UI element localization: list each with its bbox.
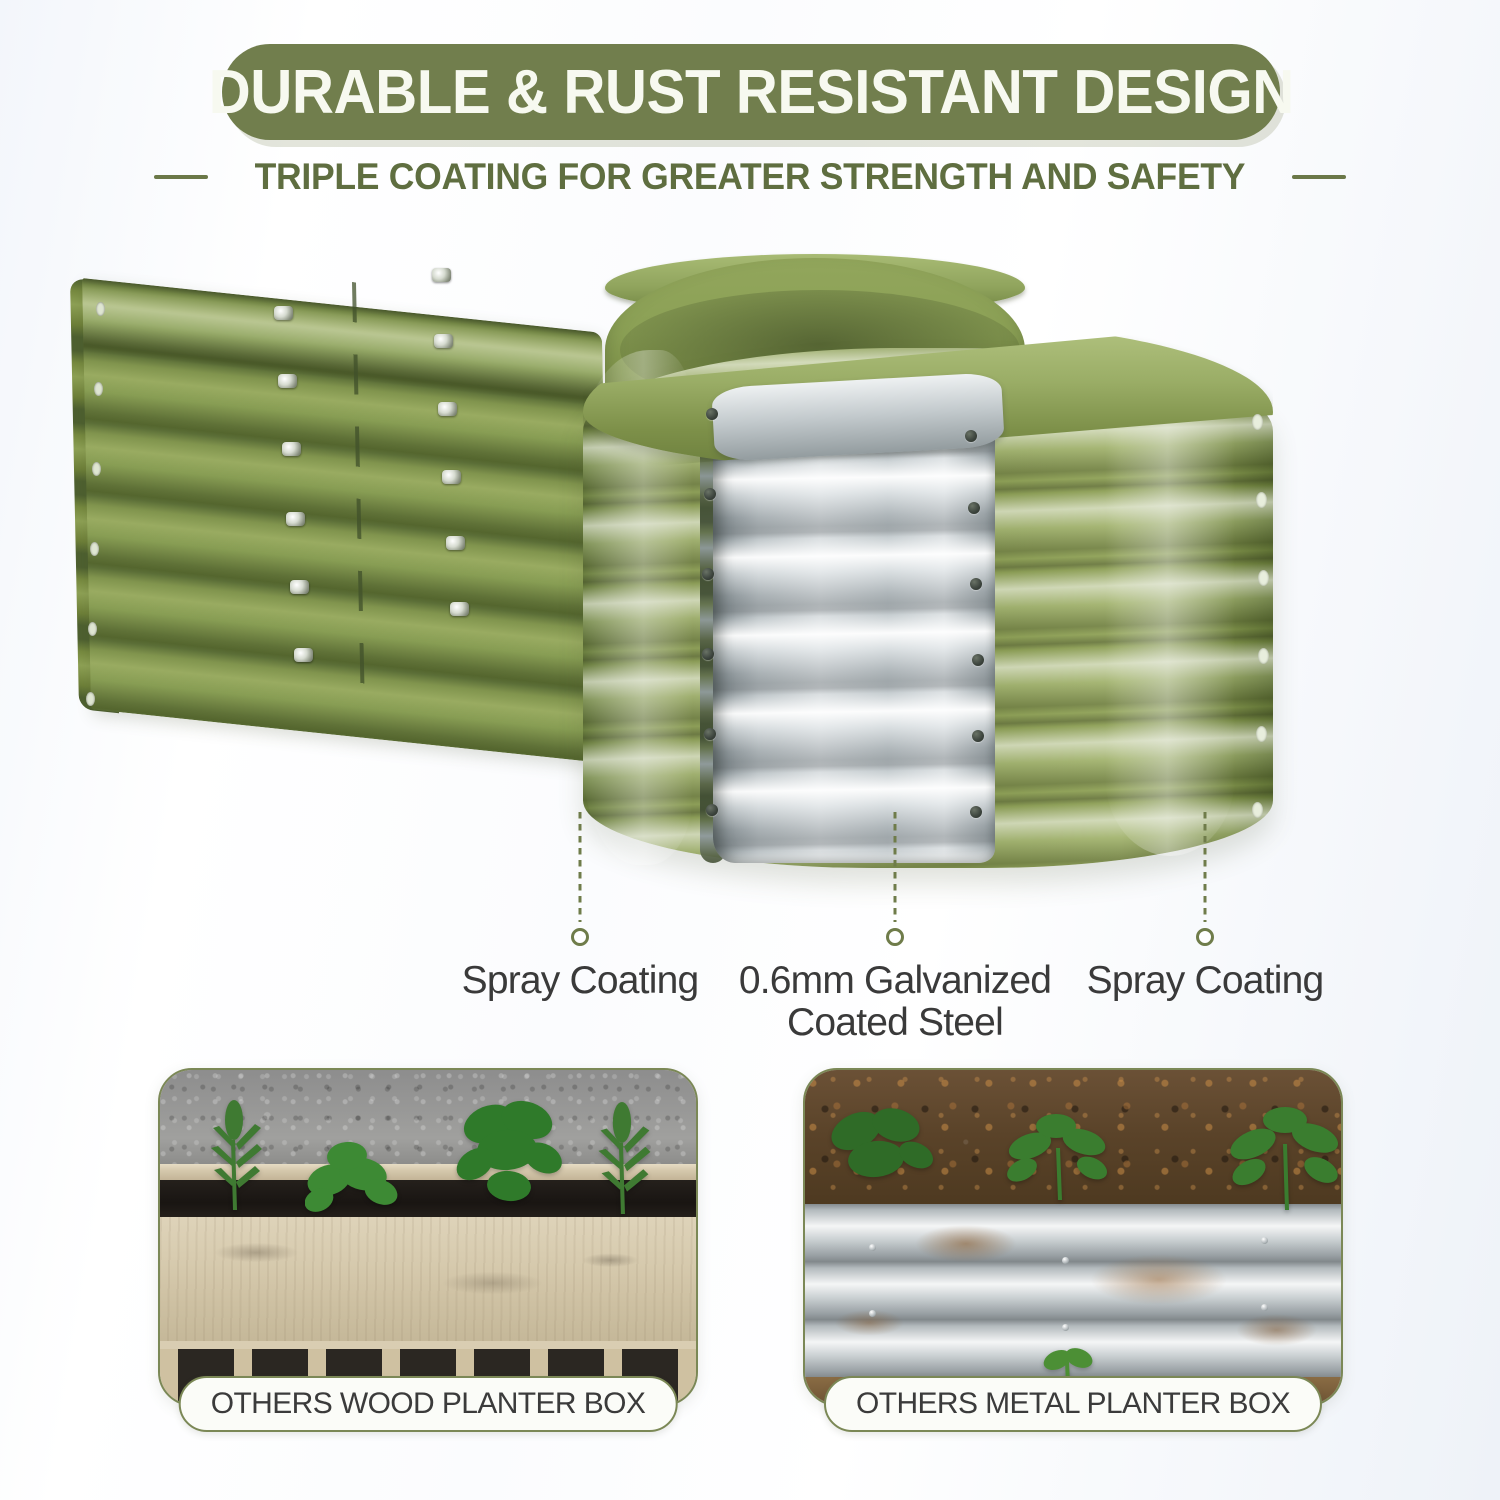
- rivet: [869, 1244, 876, 1251]
- rivet: [702, 648, 714, 660]
- bolt: [446, 536, 465, 550]
- screw-hole: [1258, 570, 1269, 586]
- subtitle-row: TRIPLE COATING FOR GREATER STRENGTH AND …: [0, 156, 1500, 198]
- comparison-card-metal[interactable]: OTHERS METAL PLANTER BOX: [803, 1068, 1343, 1406]
- screw-hole: [1256, 726, 1267, 742]
- rivet: [965, 430, 977, 442]
- bolt: [450, 602, 469, 616]
- rivet: [704, 488, 716, 500]
- callout-label: Spray Coating: [462, 960, 699, 1002]
- screw-hole: [1258, 648, 1269, 664]
- subtitle-dash-left: [154, 175, 208, 179]
- rosemary-plant-icon: [589, 1102, 663, 1214]
- rivet: [968, 502, 980, 514]
- metal-planter-photo: [805, 1070, 1341, 1404]
- page-subtitle: TRIPLE COATING FOR GREATER STRENGTH AND …: [255, 156, 1246, 198]
- bolt: [434, 334, 453, 348]
- screw-hole: [1252, 414, 1263, 430]
- header-banner: DURABLE & RUST RESISTANT DESIGN: [222, 44, 1280, 140]
- leader-line: [894, 812, 897, 922]
- bolt: [290, 580, 309, 594]
- tomato-plant-icon: [1223, 1100, 1343, 1210]
- wood-side-boards: [160, 1217, 696, 1344]
- bolt: [432, 268, 451, 282]
- comparison-card-wood[interactable]: OTHERS WOOD PLANTER BOX: [158, 1068, 698, 1406]
- leader-line: [1204, 812, 1207, 922]
- rivet: [972, 654, 984, 666]
- page-title: DURABLE & RUST RESISTANT DESIGN: [208, 57, 1293, 128]
- screw-hole: [86, 692, 95, 706]
- rivet: [706, 408, 718, 420]
- wood-planter-photo: [160, 1070, 696, 1404]
- leader-endpoint: [1196, 928, 1214, 946]
- tomato-plant-icon: [998, 1108, 1118, 1200]
- card-label-pill: OTHERS WOOD PLANTER BOX: [179, 1376, 678, 1432]
- card-label-pill: OTHERS METAL PLANTER BOX: [824, 1376, 1322, 1432]
- rivet: [1261, 1304, 1268, 1311]
- screw-hole: [1252, 802, 1263, 818]
- leader-endpoint: [571, 928, 589, 946]
- bolt: [438, 402, 457, 416]
- rivet: [1261, 1237, 1268, 1244]
- rivet: [970, 806, 982, 818]
- basil-plant-icon: [449, 1094, 569, 1210]
- photo-frame: [803, 1068, 1343, 1406]
- rivet: [704, 728, 716, 740]
- bolt: [274, 306, 293, 320]
- rivet: [702, 568, 714, 580]
- screw-hole: [94, 382, 103, 396]
- photo-frame: [158, 1068, 698, 1406]
- bolt: [282, 442, 301, 456]
- bolt: [294, 648, 313, 662]
- product-illustration: [60, 230, 1390, 930]
- callout-label: 0.6mm Galvanized Coated Steel: [730, 960, 1060, 1044]
- rivet: [970, 578, 982, 590]
- bolt: [442, 470, 461, 484]
- pepper-plant-icon: [826, 1097, 936, 1197]
- rivet: [706, 804, 718, 816]
- screw-hole: [1256, 492, 1267, 508]
- bolt: [278, 374, 297, 388]
- screw-hole: [90, 542, 99, 556]
- subtitle-dash-right: [1292, 175, 1346, 179]
- leader-endpoint: [886, 928, 904, 946]
- screw-hole: [92, 462, 101, 476]
- callout-label: Spray Coating: [1087, 960, 1324, 1002]
- rivet: [972, 730, 984, 742]
- bolt: [286, 512, 305, 526]
- screw-hole: [96, 302, 105, 316]
- screw-hole: [88, 622, 97, 636]
- green-coated-wing-panel: [82, 278, 611, 764]
- rosemary-plant-icon: [203, 1100, 273, 1210]
- leader-line: [579, 812, 582, 922]
- basil-plant-icon: [305, 1136, 401, 1214]
